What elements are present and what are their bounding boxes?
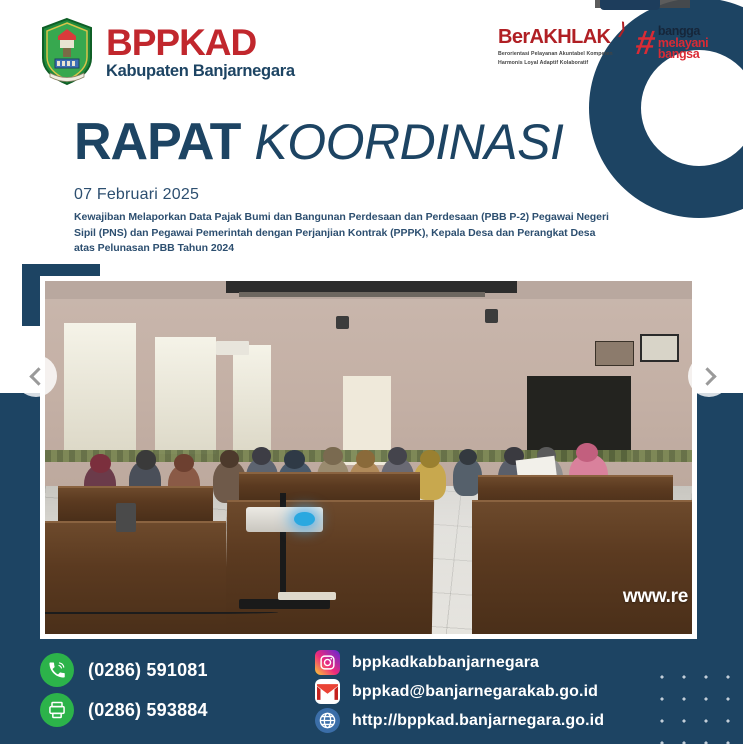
hash-icon: # <box>634 30 657 57</box>
berakhlak-logo: BerAKHLAK ⟩ Berorientasi Pelayanan Akunt… <box>498 26 613 67</box>
contact-online-group: bppkadkabbanjarnegara bppkad@banjarnegar… <box>315 648 604 735</box>
brand-title: BPPKAD <box>106 24 295 61</box>
bangga-melayani-bangsa-logo: # bangga melayani bangsa <box>636 26 708 61</box>
fax-printer-icon <box>40 693 74 727</box>
brand-subtitle: Kabupaten Banjarnegara <box>106 63 295 80</box>
contact-fax-row[interactable]: (0286) 593884 <box>40 690 208 730</box>
phone-icon <box>40 653 74 687</box>
contact-phone-group: (0286) 591081 (0286) 593884 <box>40 650 208 730</box>
instagram-handle: bppkadkabbanjarnegara <box>352 654 539 672</box>
event-date: 07 Februari 2025 <box>74 186 563 204</box>
poster-page: BPPKAD Kabupaten Banjarnegara BerAKHLAK … <box>0 0 743 744</box>
banjarnegara-regency-emblem-icon <box>38 16 96 88</box>
top-cropped-navy-tab <box>600 0 660 10</box>
poster-header: BPPKAD Kabupaten Banjarnegara BerAKHLAK … <box>0 0 743 100</box>
globe-icon <box>315 708 340 733</box>
chevron-right-icon <box>698 367 716 385</box>
page-title-bold: RAPAT <box>74 112 240 172</box>
website-url: http://bppkad.banjarnegara.go.id <box>352 712 604 730</box>
meeting-room-photo: www.re <box>45 281 692 634</box>
carousel-prev-button[interactable] <box>15 355 57 397</box>
email-address: bppkad@banjarnegarakab.go.id <box>352 683 598 701</box>
bppkad-brand: BPPKAD Kabupaten Banjarnegara <box>38 16 295 88</box>
contact-bar: (0286) 591081 (0286) 593884 <box>0 644 743 744</box>
fax-number: (0286) 593884 <box>88 700 208 721</box>
contact-website-row[interactable]: http://bppkad.banjarnegara.go.id <box>315 706 604 735</box>
berakhlak-arrow-icon: ⟩ <box>617 19 628 40</box>
photo-watermark: www.re <box>623 586 688 608</box>
gmail-icon <box>315 679 340 704</box>
berakhlak-values-line1: Berorientasi Pelayanan Akuntabel Kompete… <box>498 50 613 58</box>
contact-phone-row[interactable]: (0286) 591081 <box>40 650 208 690</box>
berakhlak-title: BerAKHLAK <box>498 26 613 49</box>
bangga-line-3: bangsa <box>658 49 708 61</box>
chevron-left-icon <box>29 367 47 385</box>
instagram-icon <box>315 650 340 675</box>
contact-email-row[interactable]: bppkad@banjarnegarakab.go.id <box>315 677 604 706</box>
berakhlak-values-line2: Harmonis Loyal Adaptif Kolaboratif <box>498 59 613 67</box>
event-description: Kewajiban Melaporkan Data Pajak Bumi dan… <box>74 210 614 257</box>
contact-instagram-row[interactable]: bppkadkabbanjarnegara <box>315 648 604 677</box>
carousel-next-button[interactable] <box>688 355 730 397</box>
carousel-photo-frame[interactable]: www.re <box>40 276 697 639</box>
page-title-italic: KOORDINASI <box>254 113 563 171</box>
poster-title-block: RAPAT KOORDINASI 07 Februari 2025 <box>74 112 563 204</box>
phone-number: (0286) 591081 <box>88 660 208 681</box>
